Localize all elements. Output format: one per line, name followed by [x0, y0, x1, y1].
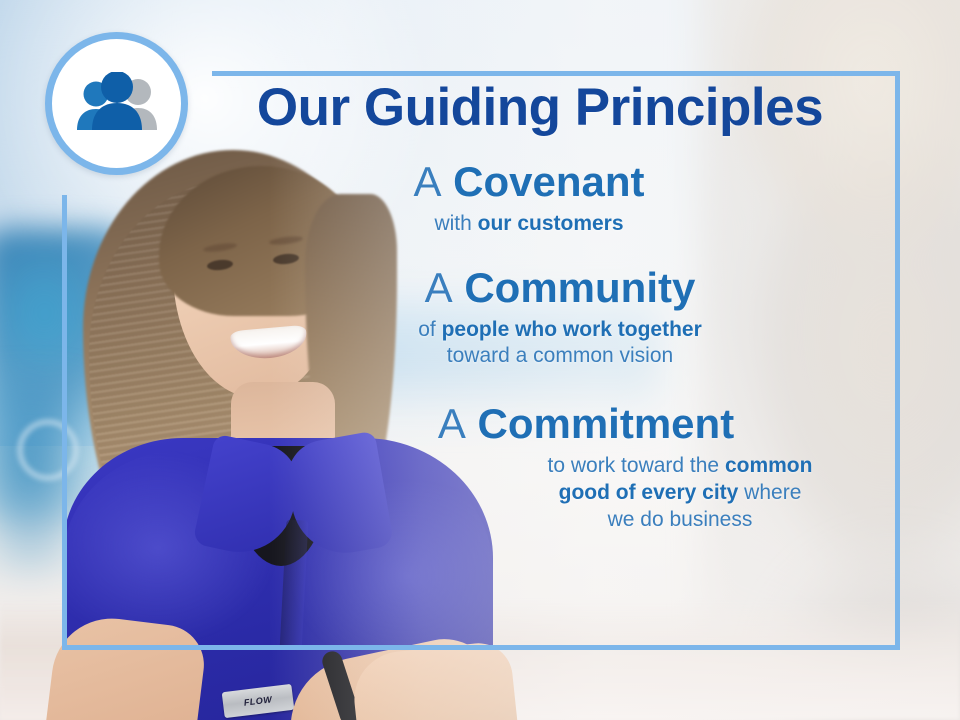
principle-title: Covenant [453, 158, 644, 205]
people-group-icon [71, 72, 163, 136]
poster-text-content: Our Guiding Principles A Covenant with o… [190, 80, 890, 534]
page-title: Our Guiding Principles [190, 80, 890, 136]
principle-article: A [413, 158, 441, 205]
principle-detail-covenant: with our customers [168, 211, 890, 238]
principle-article: A [438, 400, 466, 447]
principle-detail-community: of people who work togethertoward a comm… [230, 317, 890, 371]
principle-title: Community [464, 264, 695, 311]
principle-title: Commitment [478, 400, 735, 447]
principle-block-community: A Community of people who work togethert… [190, 264, 890, 371]
guiding-principles-poster: FLOW FLOW [0, 0, 960, 720]
principle-block-commitment: A Commitment to work toward the commongo… [190, 400, 890, 534]
principle-article: A [425, 264, 453, 311]
people-group-badge [45, 32, 188, 175]
principle-block-covenant: A Covenant with our customers [190, 158, 890, 238]
principle-detail-commitment: to work toward the commongood of every c… [470, 453, 890, 534]
principle-lead-commitment: A Commitment [282, 400, 890, 447]
principle-lead-community: A Community [230, 264, 890, 311]
principle-lead-covenant: A Covenant [168, 158, 890, 205]
